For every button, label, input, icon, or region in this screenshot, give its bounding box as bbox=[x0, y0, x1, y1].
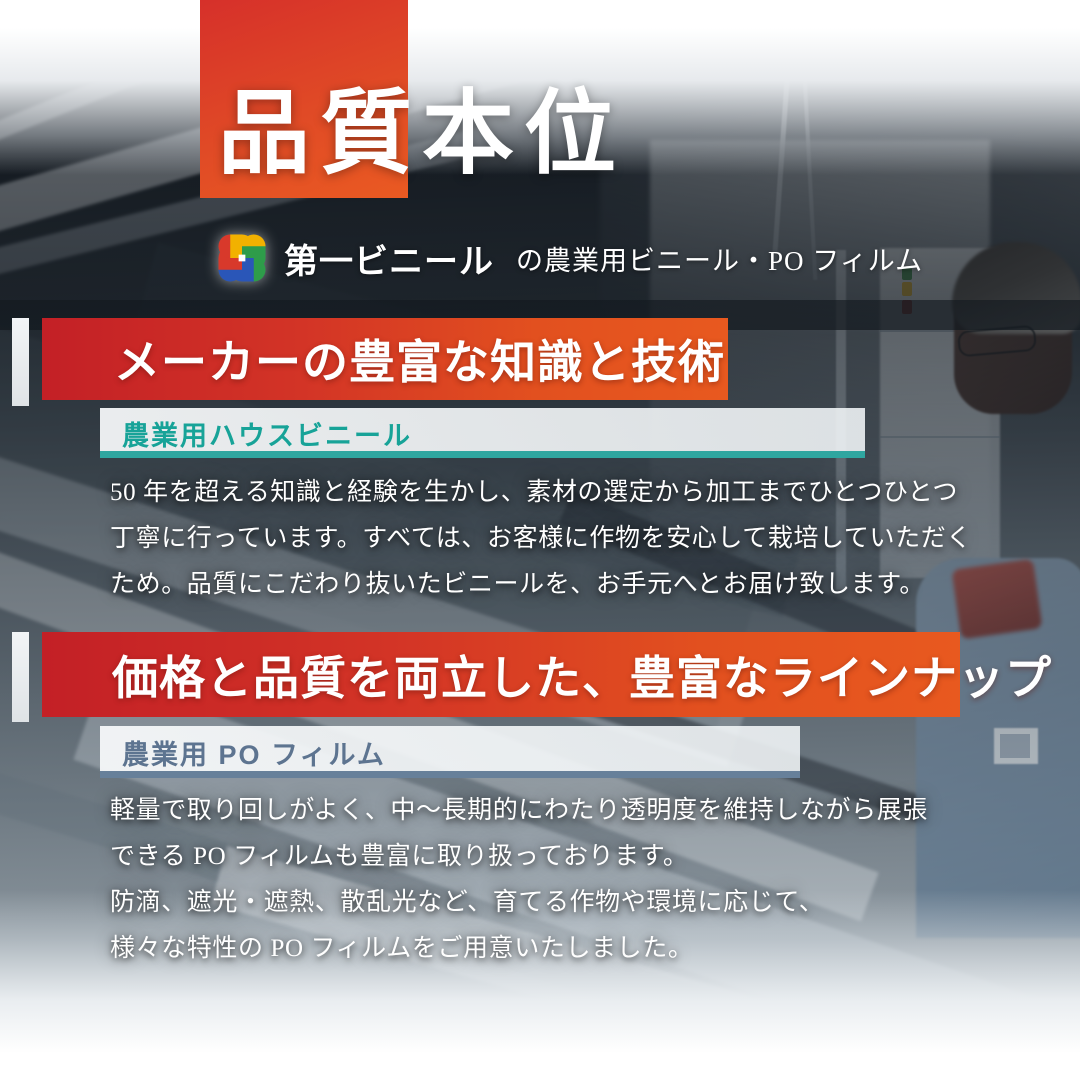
section-banner-1-text: メーカーの豊富な知識と技術 bbox=[114, 326, 725, 392]
section-body-2: 軽量で取り回しがよく、中～長期的にわたり透明度を維持しながら展張 できる PO … bbox=[110, 788, 970, 972]
section-rule-2 bbox=[100, 771, 800, 778]
brand-tagline: の農業用ビニール・PO フィルム bbox=[516, 239, 923, 278]
section-body-2-line: 様々な特性の PO フィルムをご用意いたしました。 bbox=[110, 926, 970, 972]
section-subheading-2: 農業用 PO フィルム bbox=[122, 733, 386, 772]
section-body-2-line: 防滴、遮光・遮熱、散乱光など、育てる作物や環境に応じて、 bbox=[110, 880, 970, 926]
section-banner-2: 価格と品質を両立した、豊富なラインナップ bbox=[42, 632, 960, 717]
section-body-1: 50 年を超える知識と経験を生かし、素材の選定から加工までひとつひとつ 丁寧に行… bbox=[110, 470, 950, 608]
section-banner-2-text: 価格と品質を両立した、豊富なラインナップ bbox=[112, 642, 1052, 708]
pinwheel-logo-icon bbox=[214, 230, 270, 286]
section-subheading-1: 農業用ハウスビニール bbox=[122, 414, 412, 453]
promo-banner-root: 品質本位 第一ビニール の農業用ビニール・PO フィルム bbox=[0, 0, 1080, 1080]
section-body-1-line: 50 年を超える知識と経験を生かし、素材の選定から加工までひとつひとつ bbox=[110, 470, 950, 516]
page-title: 品質本位 bbox=[218, 74, 938, 194]
section-accent-bar bbox=[12, 318, 29, 406]
section-body-2-line: 軽量で取り回しがよく、中～長期的にわたり透明度を維持しながら展張 bbox=[110, 788, 970, 834]
section-subheading-band-2: 農業用 PO フィルム bbox=[100, 726, 800, 778]
section-body-1-line: ため。品質にこだわり抜いたビニールを、お手元へとお届け致します。 bbox=[110, 562, 950, 608]
page-title-text: 品質本位 bbox=[218, 88, 626, 180]
section-subheading-band-1: 農業用ハウスビニール bbox=[100, 408, 865, 458]
section-body-1-line: 丁寧に行っています。すべては、お客様に作物を安心して栽培していただく bbox=[110, 516, 950, 562]
section-banner-1: メーカーの豊富な知識と技術 bbox=[42, 318, 728, 400]
section-accent-bar bbox=[12, 632, 29, 722]
section-rule-1 bbox=[100, 451, 865, 458]
brand-row: 第一ビニール の農業用ビニール・PO フィルム bbox=[214, 228, 923, 288]
section-body-2-line: できる PO フィルムも豊富に取り扱っております。 bbox=[110, 834, 970, 880]
brand-name: 第一ビニール bbox=[284, 234, 494, 283]
